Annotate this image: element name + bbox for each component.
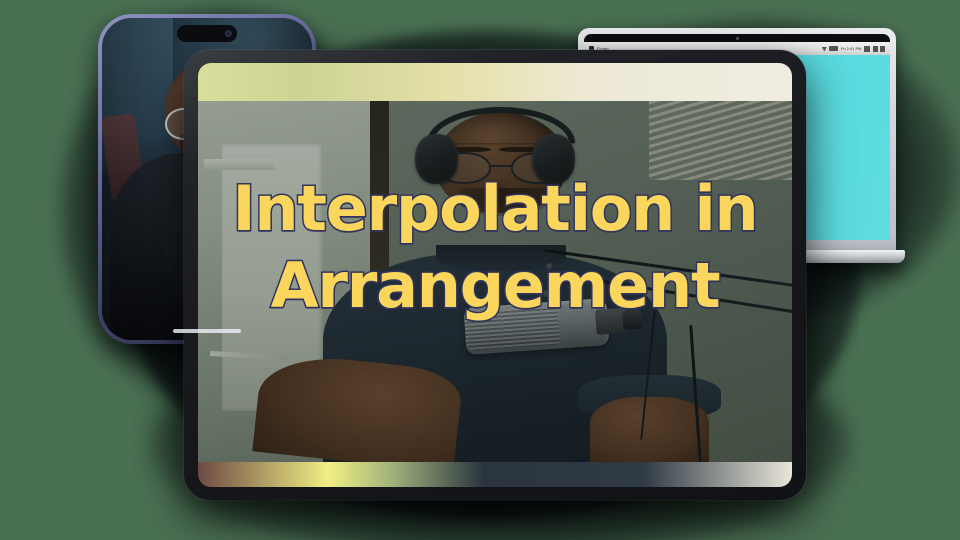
home-indicator[interactable] xyxy=(173,329,241,333)
tablet-frame: Interpolation in Arrangement xyxy=(184,50,806,500)
video-thumbnail[interactable] xyxy=(198,101,792,461)
video-letterbox-bottom xyxy=(198,462,792,487)
search-icon[interactable] xyxy=(873,46,878,52)
dynamic-island xyxy=(177,25,237,42)
video-dark-overlay xyxy=(198,101,792,461)
control-center-icon[interactable] xyxy=(864,46,870,52)
menubar-clock: Fri 2:41 PM xyxy=(841,46,862,51)
siri-icon[interactable] xyxy=(880,46,885,52)
wifi-icon[interactable] xyxy=(822,46,827,52)
video-letterbox-top xyxy=(198,63,792,101)
tablet-ipad[interactable]: Interpolation in Arrangement xyxy=(184,50,806,500)
battery-icon[interactable] xyxy=(829,46,838,51)
laptop-camera-icon xyxy=(736,37,739,40)
front-camera-icon xyxy=(225,30,232,37)
tablet-screen[interactable]: Interpolation in Arrangement xyxy=(198,63,792,487)
mockup-scene: Finder Fri 2:41 PM xyxy=(0,0,960,540)
menubar-status-group: Fri 2:41 PM xyxy=(822,46,885,52)
